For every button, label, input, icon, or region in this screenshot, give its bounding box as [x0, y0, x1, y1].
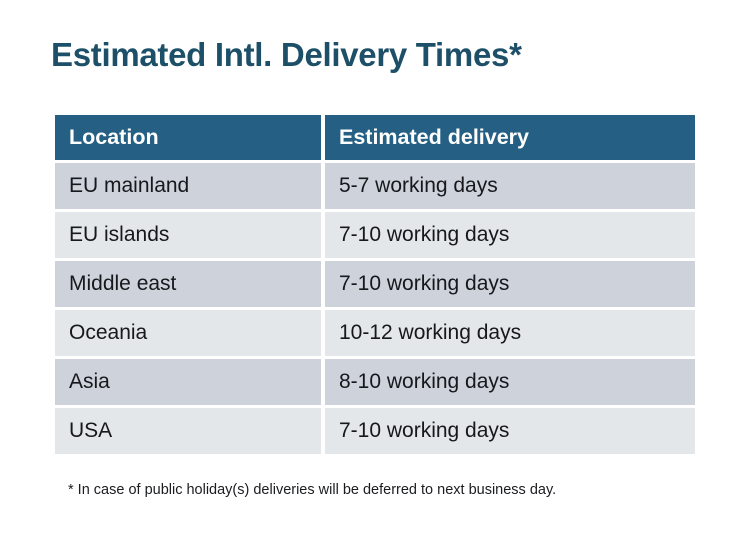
table-header-row: Location Estimated delivery — [55, 115, 695, 160]
table-body: EU mainland 5-7 working days EU islands … — [55, 163, 695, 454]
cell-delivery: 8-10 working days — [325, 359, 695, 405]
cell-delivery: 7-10 working days — [325, 408, 695, 454]
cell-delivery: 5-7 working days — [325, 163, 695, 209]
cell-delivery: 7-10 working days — [325, 261, 695, 307]
column-header-estimated-delivery: Estimated delivery — [325, 115, 695, 160]
delivery-times-page: Estimated Intl. Delivery Times* Location… — [0, 0, 745, 536]
page-title: Estimated Intl. Delivery Times* — [51, 36, 522, 74]
table-row: EU islands 7-10 working days — [55, 212, 695, 258]
cell-location: Middle east — [55, 261, 321, 307]
cell-location: Oceania — [55, 310, 321, 356]
cell-delivery: 7-10 working days — [325, 212, 695, 258]
table-row: USA 7-10 working days — [55, 408, 695, 454]
table-row: EU mainland 5-7 working days — [55, 163, 695, 209]
table-row: Middle east 7-10 working days — [55, 261, 695, 307]
table-row: Oceania 10-12 working days — [55, 310, 695, 356]
table-row: Asia 8-10 working days — [55, 359, 695, 405]
cell-location: Asia — [55, 359, 321, 405]
cell-location: USA — [55, 408, 321, 454]
footnote: * In case of public holiday(s) deliverie… — [68, 482, 556, 498]
cell-location: EU islands — [55, 212, 321, 258]
table-header: Location Estimated delivery — [55, 115, 695, 160]
estimated-delivery-times-table: Location Estimated delivery EU mainland … — [51, 112, 699, 457]
cell-location: EU mainland — [55, 163, 321, 209]
column-header-location: Location — [55, 115, 321, 160]
cell-delivery: 10-12 working days — [325, 310, 695, 356]
